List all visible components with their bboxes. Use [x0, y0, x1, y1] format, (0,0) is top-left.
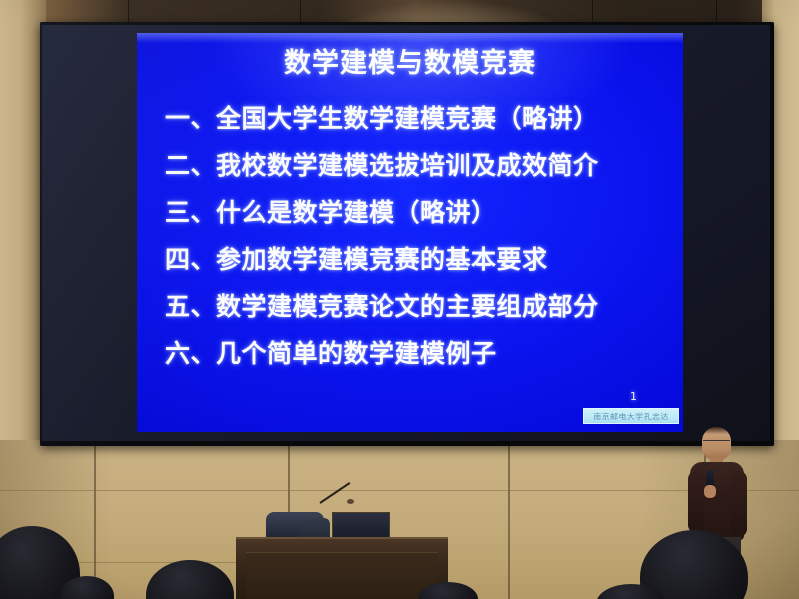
list-item-number: 二、 [165, 142, 216, 189]
slide-title: 数学建模与数模竞赛 [137, 47, 683, 81]
list-item-number: 五、 [165, 283, 216, 330]
wall-panel-line [0, 490, 799, 491]
monitor [332, 512, 390, 540]
list-item-label: 参加数学建模竞赛的基本要求 [216, 245, 548, 274]
list-item-number: 一、 [165, 95, 216, 142]
list-item-label: 我校数学建模选拔培训及成效简介 [216, 151, 599, 180]
list-item: 五、数学建模竞赛论文的主要组成部分 [165, 283, 665, 330]
list-item: 三、什么是数学建模（略讲） [165, 189, 665, 236]
list-item: 六、几个简单的数学建模例子 [165, 330, 665, 377]
list-item-number: 四、 [165, 236, 216, 283]
list-item-number: 三、 [165, 189, 216, 236]
list-item-label: 几个简单的数学建模例子 [216, 339, 497, 368]
presenter-left-arm [688, 471, 705, 533]
list-item-label: 数学建模竞赛论文的主要组成部分 [216, 292, 599, 321]
wall-panel-seam [508, 444, 510, 599]
list-item: 二、我校数学建模选拔培训及成效简介 [165, 142, 665, 189]
wall-panel-seam [94, 442, 96, 599]
slide-watermark: 南京邮电大学孔志达 [583, 408, 679, 424]
lecture-hall-scene: 数学建模与数模竞赛 一、全国大学生数学建模竞赛（略讲） 二、我校数学建模选拔培训… [0, 0, 799, 599]
slide-top-glow [137, 33, 683, 43]
slide-page-number: 1 [630, 390, 637, 403]
list-item-label: 全国大学生数学建模竞赛（略讲） [216, 104, 599, 133]
presentation-slide[interactable]: 数学建模与数模竞赛 一、全国大学生数学建模竞赛（略讲） 二、我校数学建模选拔培训… [137, 33, 683, 432]
list-item: 一、全国大学生数学建模竞赛（略讲） [165, 95, 665, 142]
lecture-table-front [246, 552, 438, 599]
list-item-number: 六、 [165, 330, 216, 377]
glasses-icon [703, 440, 730, 445]
presenter-hand [704, 485, 716, 498]
list-item: 四、参加数学建模竞赛的基本要求 [165, 236, 665, 283]
display-screen[interactable]: 数学建模与数模竞赛 一、全国大学生数学建模竞赛（略讲） 二、我校数学建模选拔培训… [40, 22, 774, 446]
slide-watermark-label: 南京邮电大学孔志达 [593, 411, 669, 421]
microphone-head-icon [347, 499, 354, 504]
list-item-label: 什么是数学建模（略讲） [216, 198, 497, 227]
presenter-right-arm [730, 471, 747, 537]
slide-outline-list: 一、全国大学生数学建模竞赛（略讲） 二、我校数学建模选拔培训及成效简介 三、什么… [165, 95, 665, 377]
